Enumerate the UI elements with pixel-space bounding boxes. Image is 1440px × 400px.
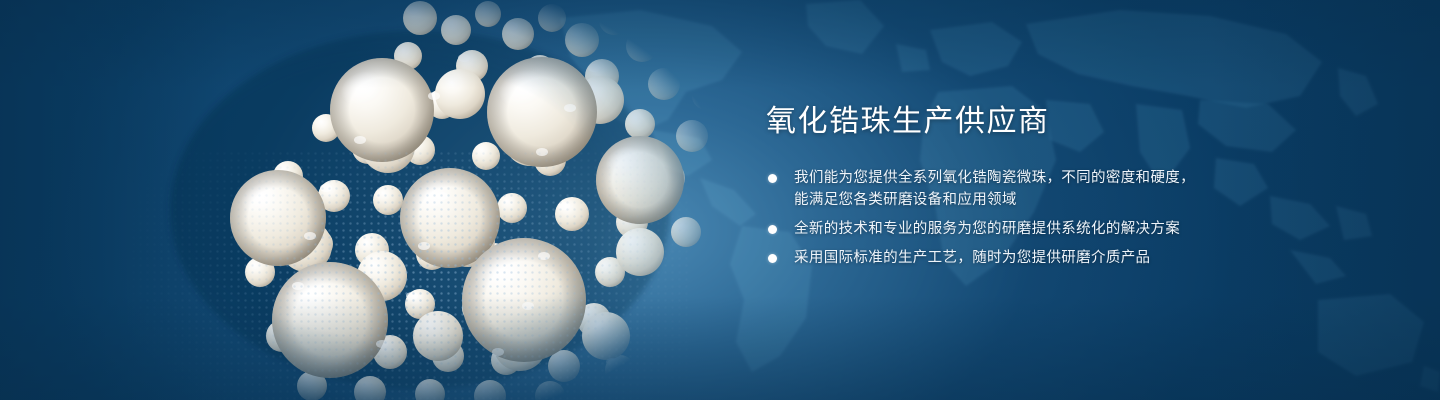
hero-banner: 氧化锆珠生产供应商 我们能为您提供全系列氧化锆陶瓷微珠，不同的密度和硬度， 能满… xyxy=(0,0,1440,400)
page-title: 氧化锆珠生产供应商 xyxy=(766,104,1326,139)
list-item: 采用国际标准的生产工艺，随时为您提供研磨介质产品 xyxy=(766,247,1326,269)
banner-copy: 氧化锆珠生产供应商 我们能为您提供全系列氧化锆陶瓷微珠，不同的密度和硬度， 能满… xyxy=(766,104,1326,269)
list-item: 全新的技术和专业的服务为您的研磨提供系统化的解决方案 xyxy=(766,218,1326,240)
bullet-dot-icon xyxy=(768,254,777,263)
bullet-dot-icon xyxy=(768,174,777,183)
bullet-line: 我们能为您提供全系列氧化锆陶瓷微珠，不同的密度和硬度， xyxy=(794,167,1326,189)
list-item: 我们能为您提供全系列氧化锆陶瓷微珠，不同的密度和硬度， 能满足您各类研磨设备和应… xyxy=(766,167,1326,211)
bullet-line: 能满足您各类研磨设备和应用领域 xyxy=(794,189,1326,211)
bullet-line: 全新的技术和专业的服务为您的研磨提供系统化的解决方案 xyxy=(794,218,1326,240)
zirconia-beads-photo xyxy=(120,0,720,400)
bullet-dot-icon xyxy=(768,225,777,234)
feature-bullet-list: 我们能为您提供全系列氧化锆陶瓷微珠，不同的密度和硬度， 能满足您各类研磨设备和应… xyxy=(766,167,1326,269)
bullet-line: 采用国际标准的生产工艺，随时为您提供研磨介质产品 xyxy=(794,247,1326,269)
